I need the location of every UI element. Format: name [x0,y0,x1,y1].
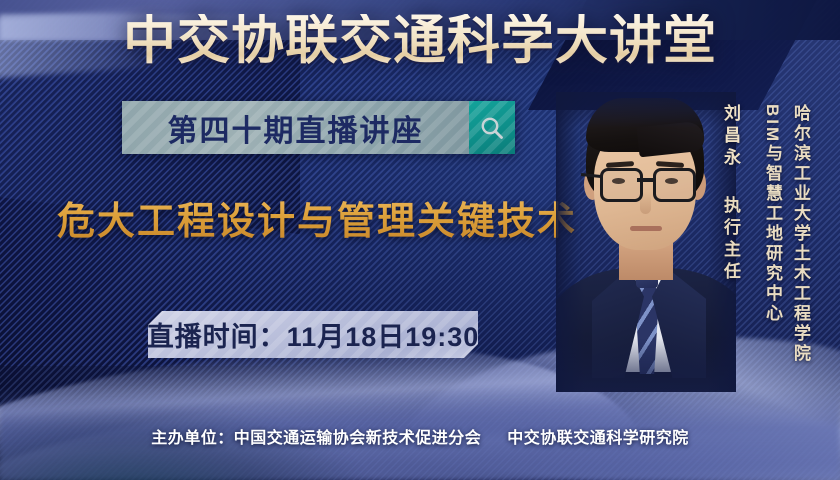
episode-banner-body: 第四十期直播讲座 [122,101,469,154]
lecture-headline: 危大工程设计与管理关键技术 [57,190,577,245]
broadcast-time-label: 直播时间：11月18日19:30 [147,315,480,354]
footer: 主办单位：中国交通运输协会新技术促进分会中交协联交通科学研究院 [0,424,840,448]
speaker-role: 执行主任 [718,196,743,284]
broadcast-time-banner: 直播时间：11月18日19:30 [148,311,478,358]
promo-poster: 中交协联交通科学大讲堂 第四十期直播讲座 危大工程设计与管理关键技术 直播时间：… [0,0,840,480]
speaker-affiliation-school: 哈尔滨工业大学土木工程学院 [788,104,813,364]
speaker-name: 刘昌永 [718,104,743,170]
page-title: 中交协联交通科学大讲堂 [0,14,840,67]
portrait-edge-fade [556,92,736,392]
episode-banner-label: 第四十期直播讲座 [168,106,424,150]
speaker-affiliation-center: BIM与智慧工地研究中心 [760,104,785,324]
footer-organizer-second: 中交协联交通科学研究院 [507,430,689,447]
footer-organizer: 主办单位：中国交通运输协会新技术促进分会 [151,430,481,447]
episode-banner: 第四十期直播讲座 [122,101,515,154]
speaker-portrait [556,92,736,392]
search-icon [469,101,515,154]
